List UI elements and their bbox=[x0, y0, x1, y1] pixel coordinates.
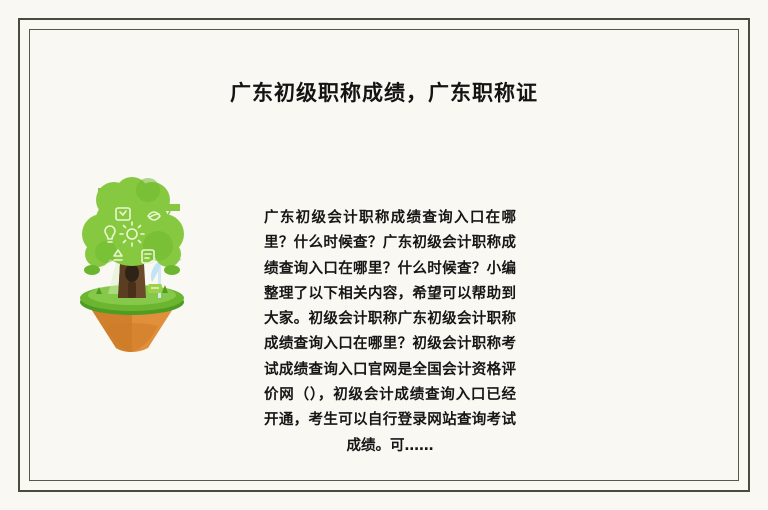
eco-tree-island-icon bbox=[62, 176, 202, 352]
article-body-text: 广东初级会计职称成绩查询入口在哪里？什么时候查？广东初级会计职称成绩查询入口在哪… bbox=[264, 206, 516, 459]
page-title: 广东初级职称成绩，广东职称证 bbox=[0, 78, 768, 108]
article-card: 广东初级职称成绩，广东职称证 bbox=[0, 0, 768, 510]
eco-tree-island-illustration bbox=[62, 176, 202, 352]
